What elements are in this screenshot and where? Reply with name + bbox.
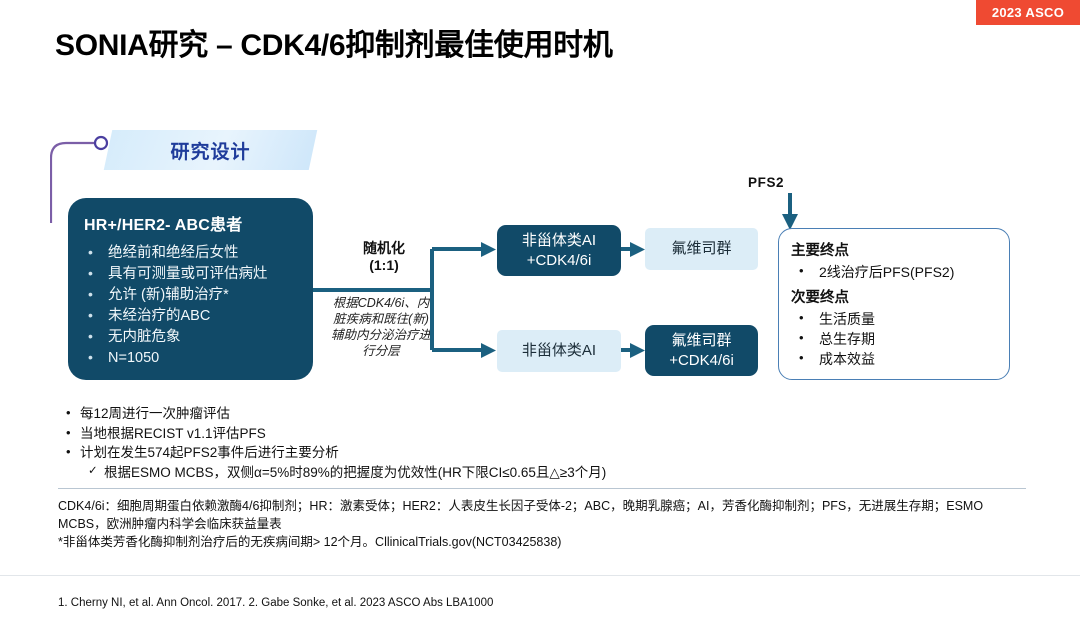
list-item-sub: 根据ESMO MCBS，双侧α=5%时89%的把握度为优效性(HR下限CI≤0.…	[62, 463, 762, 483]
list-item: 允许 (新)辅助治疗*	[68, 285, 313, 306]
list-item: 每12周进行一次肿瘤评估	[62, 404, 762, 424]
list-item: 无内脏危象	[68, 327, 313, 348]
arm2-first-line-treatment: 非甾体类AI	[497, 330, 621, 372]
list-item: 2线治疗后PFS(PFS2)	[791, 262, 1009, 282]
list-item: 当地根据RECIST v1.1评估PFS	[62, 424, 762, 444]
list-item: 生活质量	[791, 309, 1009, 329]
secondary-endpoint-heading: 次要终点	[791, 286, 1009, 307]
abbreviations-line1: CDK4/6i：细胞周期蛋白依赖激酶4/6抑制剂；HR：激素受体；HER2：人表…	[58, 497, 1026, 533]
footer-divider	[0, 575, 1080, 576]
study-notes: 每12周进行一次肿瘤评估 当地根据RECIST v1.1评估PFS 计划在发生5…	[62, 404, 762, 482]
arm1-first-line-treatment: 非甾体类AI +CDK4/6i	[497, 225, 621, 276]
arm2-second-line-treatment: 氟维司群 +CDK4/6i	[645, 325, 758, 376]
patient-population-box: HR+/HER2- ABC患者 绝经前和绝经后女性 具有可测量或可评估病灶 允许…	[68, 198, 313, 380]
arm1-second-line-treatment: 氟维司群	[645, 228, 758, 270]
list-item: 成本效益	[791, 349, 1009, 369]
stratification-note: 根据CDK4/6i、内脏疾病和既往(新)辅助内分泌治疗进行分层	[330, 295, 432, 359]
asco-badge: 2023 ASCO	[976, 0, 1080, 25]
pfs2-marker-label: PFS2	[748, 175, 784, 190]
randomization-label-line1: 随机化	[338, 240, 430, 257]
study-design-banner-label: 研究设计	[108, 130, 313, 170]
list-item: N=1050	[68, 348, 313, 369]
endpoints-panel: 主要终点 2线治疗后PFS(PFS2) 次要终点 生活质量 总生存期 成本效益	[778, 228, 1010, 380]
study-notes-list: 每12周进行一次肿瘤评估 当地根据RECIST v1.1评估PFS 计划在发生5…	[62, 404, 762, 482]
randomization-label: 随机化 (1:1)	[338, 240, 430, 274]
asco-badge-label: 2023 ASCO	[992, 5, 1064, 20]
abbreviations-block: CDK4/6i：细胞周期蛋白依赖激酶4/6抑制剂；HR：激素受体；HER2：人表…	[58, 497, 1026, 551]
references: 1. Cherny NI, et al. Ann Oncol. 2017. 2.…	[58, 597, 493, 609]
list-item: 计划在发生574起PFS2事件后进行主要分析	[62, 443, 762, 463]
page-title: SONIA研究 – CDK4/6抑制剂最佳使用时机	[55, 20, 613, 64]
divider	[58, 488, 1026, 489]
list-item: 具有可测量或可评估病灶	[68, 264, 313, 285]
list-item: 绝经前和绝经后女性	[68, 243, 313, 264]
randomization-ratio: (1:1)	[338, 257, 430, 274]
patient-criteria-list: 绝经前和绝经后女性 具有可测量或可评估病灶 允许 (新)辅助治疗* 未经治疗的A…	[68, 243, 313, 369]
primary-endpoint-list: 2线治疗后PFS(PFS2)	[791, 262, 1009, 282]
list-item: 未经治疗的ABC	[68, 306, 313, 327]
abbreviations-line2: *非甾体类芳香化酶抑制剂治疗后的无疾病间期> 12个月。CllinicalTri…	[58, 533, 1026, 551]
primary-endpoint-heading: 主要终点	[791, 239, 1009, 260]
patient-population-heading: HR+/HER2- ABC患者	[84, 211, 313, 235]
list-item: 总生存期	[791, 329, 1009, 349]
secondary-endpoint-list: 生活质量 总生存期 成本效益	[791, 309, 1009, 369]
